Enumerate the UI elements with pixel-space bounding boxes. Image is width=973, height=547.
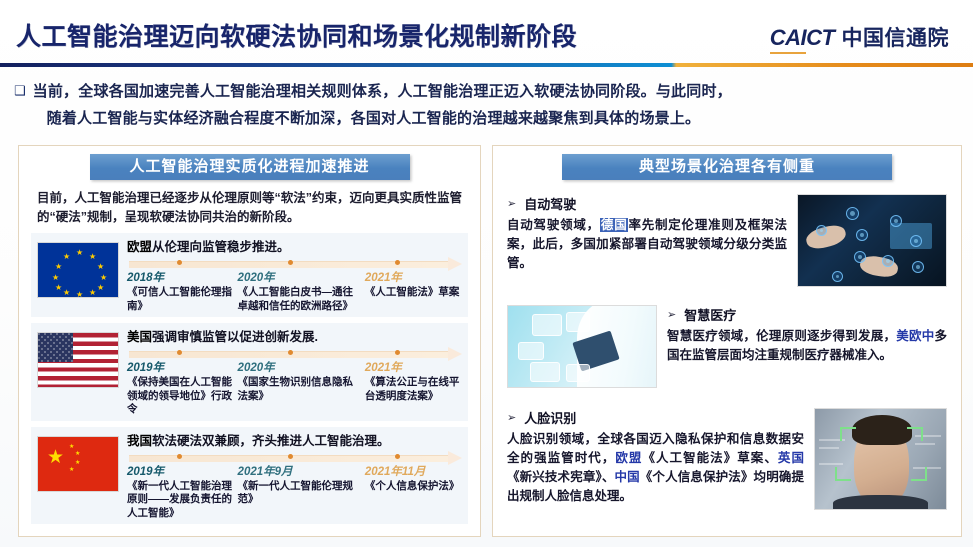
slide-header: 人工智能治理迈向软硬法协同和场景化规制新阶段 CAICT 中国信通院 <box>0 0 973 62</box>
left-panel: 人工智能治理实质化进程加速推进 目前，人工智能治理已经逐步从伦理原则等“软法”约… <box>18 145 481 537</box>
slide-root: CAICT 中国信通院 CAICT 中国信通院 CAICT 中国信通院 人工智能… <box>0 0 973 547</box>
timeline-doc: 《国家生物识别信息隐私法案》 <box>238 376 361 403</box>
scene-text-run: 智慧医疗领域，伦理原则逐步得到发展， <box>667 329 896 343</box>
right-panel-title: 典型场景化治理各有侧重 <box>562 154 892 180</box>
arrow-bullet-icon: ➢ <box>507 197 516 210</box>
timeline-doc: 《个人信息保护法》 <box>365 480 462 494</box>
timeline-doc: 《保持美国在人工智能领域的领导地位》行政令 <box>127 376 234 417</box>
eu-flag-icon: ★ ★ ★ ★ ★ ★ ★ ★ ★ ★ ★ ★ <box>37 242 119 298</box>
highlight-germany: 德国 <box>600 218 629 232</box>
timeline-year: 2020年 <box>238 361 361 375</box>
header-accent-bar <box>0 63 973 67</box>
scene-body-smart-healthcare: 智慧医疗领域，伦理原则逐步得到发展，美欧中多国在监管层面均注重规制医疗器械准入。 <box>667 327 947 365</box>
scene-body-face-recognition: 人脸识别领域，全球各国迈入隐私保护和信息数据安全的强监管时代，欧盟《人工智能法》… <box>507 430 804 506</box>
country-row-eu: ★ ★ ★ ★ ★ ★ ★ ★ ★ ★ ★ ★ 欧盟从伦理向监管稳步推进。 <box>31 233 468 317</box>
arrow-bullet-icon: ➢ <box>667 308 676 321</box>
timeline-us <box>127 347 462 360</box>
timeline-doc: 《人工智能白皮书—通往卓越和信任的欧洲路径》 <box>238 286 361 313</box>
scene-title-autonomous-driving: ➢ 自动驾驶 <box>507 194 787 213</box>
country-headline-eu: 欧盟从伦理向监管稳步推进。 <box>127 239 462 255</box>
highlight-us-eu-cn: 美欧中 <box>896 329 934 343</box>
country-headline-us: 美国强调审慎监管以促进创新发展. <box>127 329 462 345</box>
timeline-year: 2019年 <box>127 361 234 375</box>
us-flag-icon <box>37 332 119 388</box>
scene-title-label: 智慧医疗 <box>684 305 736 324</box>
scene-text-run: 《新兴技术宪章》、 <box>507 470 615 484</box>
timeline-doc: 《算法公正与在线平台透明度法案》 <box>365 376 462 403</box>
highlight-uk: 英国 <box>778 451 804 465</box>
left-panel-title: 人工智能治理实质化进程加速推进 <box>90 154 410 180</box>
scene-title-label: 自动驾驶 <box>524 194 576 213</box>
timeline-year: 2021年9月 <box>238 465 361 479</box>
scene-text-run: 《人工智能法》草案、 <box>642 451 777 465</box>
scene-autonomous-driving: ➢ 自动驾驶 自动驾驶领域，德国率先制定伦理准则及框架法案，此后，多国加紧部署自… <box>507 194 947 287</box>
timeline-year: 2018年 <box>127 271 234 285</box>
timeline-year: 2021年 <box>365 361 462 375</box>
country-row-us: 美国强调审慎监管以促进创新发展. 2019年 《保持美国在人工智能领域的领导地位… <box>31 323 468 421</box>
timeline-year: 2019年 <box>127 465 234 479</box>
left-panel-lead-text: 目前，人工智能治理已经逐步从伦理原则等“软法”约束，迈向更具实质性监管的“硬法”… <box>37 189 462 227</box>
cn-flag-icon: ★ ★ ★ ★ ★ <box>37 436 119 492</box>
scene-text-run: 自动驾驶领域， <box>507 218 600 232</box>
timeline-year: 2020年 <box>238 271 361 285</box>
caict-logo: CAICT 中国信通院 <box>770 22 949 54</box>
intro-line-1: 当前，全球各国加速完善人工智能治理相关规则体系，人工智能治理正迈入软硬法协同阶段… <box>33 78 962 105</box>
autonomous-driving-photo <box>797 194 947 287</box>
scene-title-label: 人脸识别 <box>524 408 576 427</box>
timeline-doc: 《人工智能法》草案 <box>365 286 462 300</box>
scene-title-smart-healthcare: ➢ 智慧医疗 <box>667 305 947 324</box>
highlight-eu: 欧盟 <box>615 451 642 465</box>
scene-face-recognition: ➢ 人脸识别 人脸识别领域，全球各国迈入隐私保护和信息数据安全的强监管时代，欧盟… <box>507 408 947 510</box>
timeline-year: 2021年 <box>365 271 462 285</box>
scene-smart-healthcare: ➢ 智慧医疗 智慧医疗领域，伦理原则逐步得到发展，美欧中多国在监管层面均注重规制… <box>507 305 947 388</box>
timeline-doc: 《新一代人工智能治理原则——发展负责任的人工智能》 <box>127 480 234 521</box>
intro-paragraph: ❑ 当前，全球各国加速完善人工智能治理相关规则体系，人工智能治理正迈入软硬法协同… <box>14 78 962 132</box>
logo-chinese-text: 中国信通院 <box>842 22 950 52</box>
right-panel: 典型场景化治理各有侧重 ➢ 自动驾驶 自动驾驶领域，德国率先制定伦理准则及框架法… <box>492 145 962 537</box>
face-recognition-photo <box>814 408 947 510</box>
smart-healthcare-photo <box>507 305 657 388</box>
country-row-cn: ★ ★ ★ ★ ★ 我国软法硬法双兼顾，齐头推进人工智能治理。 <box>31 427 468 525</box>
intro-line-2: 随着人工智能与实体经济融合程度不断加深，各国对人工智能的治理越来越聚焦到具体的场… <box>33 105 962 132</box>
bullet-icon: ❑ <box>14 78 26 104</box>
scene-body-autonomous-driving: 自动驾驶领域，德国率先制定伦理准则及框架法案，此后，多国加紧部署自动驾驶领域分级… <box>507 216 787 273</box>
scene-title-face-recognition: ➢ 人脸识别 <box>507 408 804 427</box>
timeline-doc: 《可信人工智能伦理指南》 <box>127 286 234 313</box>
timeline-eu <box>127 257 462 270</box>
highlight-china: 中国 <box>615 470 640 484</box>
page-title: 人工智能治理迈向软硬法协同和场景化规制新阶段 <box>16 17 577 53</box>
arrow-bullet-icon: ➢ <box>507 411 516 424</box>
timeline-year: 2021年11月 <box>365 465 462 479</box>
logo-abbr-text: CAICT <box>770 25 835 54</box>
country-headline-cn: 我国软法硬法双兼顾，齐头推进人工智能治理。 <box>127 433 462 449</box>
timeline-doc: 《新一代人工智能伦理规范》 <box>238 480 361 507</box>
timeline-cn <box>127 451 462 464</box>
